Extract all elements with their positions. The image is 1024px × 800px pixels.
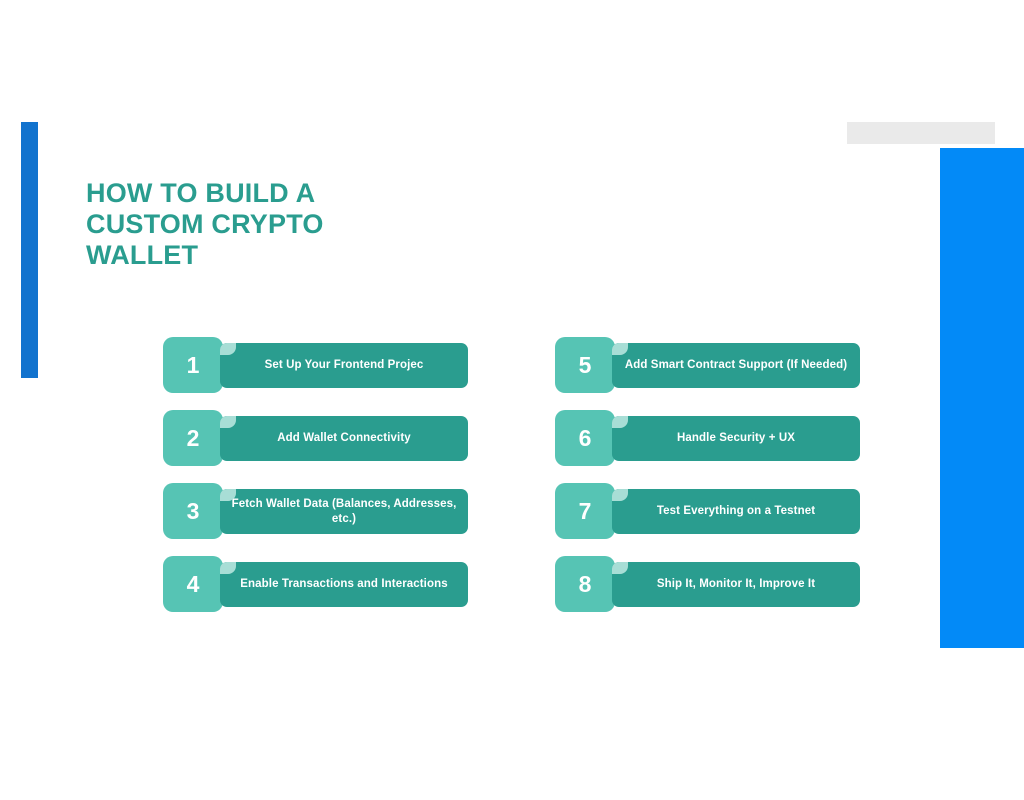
step-label-bar[interactable]: Test Everything on a Testnet — [612, 489, 860, 534]
step-item[interactable]: 3 Fetch Wallet Data (Balances, Addresses… — [163, 483, 483, 539]
infographic-slide: How to Build a Custom Crypto Wallet 1 Se… — [0, 0, 1024, 800]
step-bar-corner-tab — [612, 416, 628, 428]
steps-column-right: 5 Add Smart Contract Support (If Needed)… — [555, 337, 875, 629]
step-item[interactable]: 2 Add Wallet Connectivity — [163, 410, 483, 466]
step-label-bar[interactable]: Add Wallet Connectivity — [220, 416, 468, 461]
step-number-badge: 7 — [555, 483, 615, 539]
step-bar-corner-tab — [220, 562, 236, 574]
step-bar-corner-tab — [612, 343, 628, 355]
step-label-text: Set Up Your Frontend Projec — [265, 358, 424, 373]
step-number-badge: 3 — [163, 483, 223, 539]
step-label-text: Add Smart Contract Support (If Needed) — [625, 358, 847, 373]
step-number-badge: 4 — [163, 556, 223, 612]
step-bar-corner-tab — [220, 343, 236, 355]
step-label-text: Handle Security + UX — [677, 431, 795, 446]
step-item[interactable]: 8 Ship It, Monitor It, Improve It — [555, 556, 875, 612]
step-label-text: Add Wallet Connectivity — [277, 431, 411, 446]
step-item[interactable]: 4 Enable Transactions and Interactions — [163, 556, 483, 612]
step-label-text: Ship It, Monitor It, Improve It — [657, 577, 815, 592]
step-number-badge: 2 — [163, 410, 223, 466]
step-item[interactable]: 7 Test Everything on a Testnet — [555, 483, 875, 539]
step-label-bar[interactable]: Ship It, Monitor It, Improve It — [612, 562, 860, 607]
step-bar-corner-tab — [612, 562, 628, 574]
step-number-badge: 1 — [163, 337, 223, 393]
page-title: How to Build a Custom Crypto Wallet — [86, 178, 416, 271]
step-number-badge: 8 — [555, 556, 615, 612]
step-label-text: Test Everything on a Testnet — [657, 504, 815, 519]
top-right-gray-rectangle — [847, 122, 995, 144]
step-number-badge: 5 — [555, 337, 615, 393]
step-label-text: Enable Transactions and Interactions — [240, 577, 447, 592]
step-bar-corner-tab — [612, 489, 628, 501]
step-number-badge: 6 — [555, 410, 615, 466]
step-label-bar[interactable]: Handle Security + UX — [612, 416, 860, 461]
step-label-bar[interactable]: Fetch Wallet Data (Balances, Addresses, … — [220, 489, 468, 534]
step-label-bar[interactable]: Add Smart Contract Support (If Needed) — [612, 343, 860, 388]
step-bar-corner-tab — [220, 416, 236, 428]
step-item[interactable]: 6 Handle Security + UX — [555, 410, 875, 466]
step-label-bar[interactable]: Set Up Your Frontend Projec — [220, 343, 468, 388]
step-item[interactable]: 5 Add Smart Contract Support (If Needed) — [555, 337, 875, 393]
right-blue-panel — [940, 148, 1024, 648]
left-accent-bar — [21, 122, 38, 378]
step-item[interactable]: 1 Set Up Your Frontend Projec — [163, 337, 483, 393]
step-label-text: Fetch Wallet Data (Balances, Addresses, … — [230, 497, 458, 527]
steps-column-left: 1 Set Up Your Frontend Projec 2 Add Wall… — [163, 337, 483, 629]
step-label-bar[interactable]: Enable Transactions and Interactions — [220, 562, 468, 607]
